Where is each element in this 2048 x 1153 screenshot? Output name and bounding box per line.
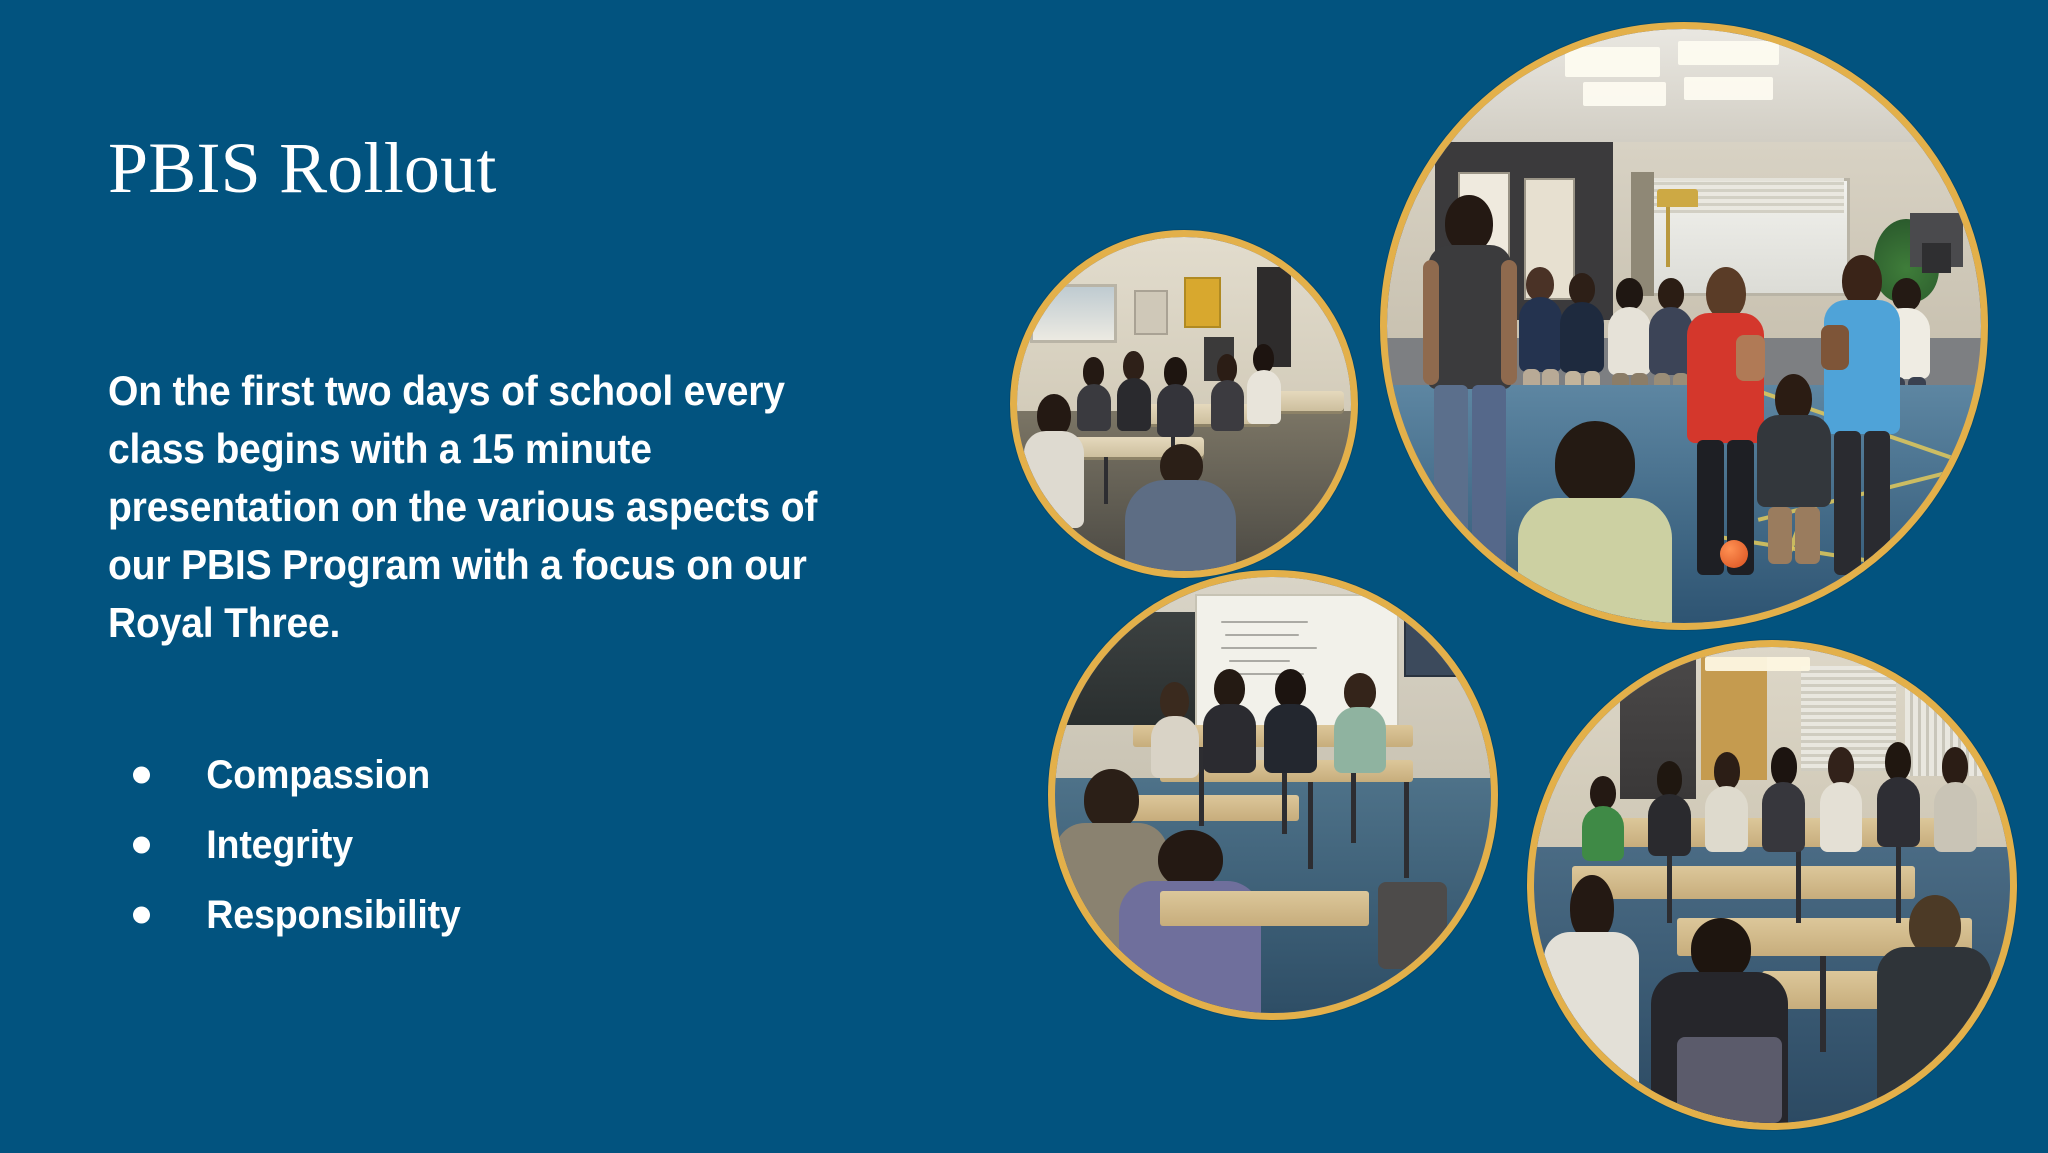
list-item: Responsibility bbox=[108, 880, 808, 950]
list-item: Integrity bbox=[108, 810, 808, 880]
photo-scene bbox=[1534, 647, 2010, 1123]
photo-collage bbox=[1000, 0, 2048, 1153]
bullet-dot-icon bbox=[133, 837, 150, 854]
royal-three-list: Compassion Integrity Responsibility bbox=[108, 740, 808, 950]
slide-text-column: PBIS Rollout On the first two days of sc… bbox=[108, 0, 938, 1153]
photo-scene bbox=[1387, 29, 1981, 623]
photo-classroom-desks bbox=[1010, 230, 1358, 578]
photo-scene bbox=[1055, 577, 1491, 1013]
bullet-dot-icon bbox=[133, 767, 150, 784]
body-paragraph: On the first two days of school every cl… bbox=[108, 362, 852, 652]
list-item: Compassion bbox=[108, 740, 808, 810]
photo-classroom-u-tables bbox=[1527, 640, 2017, 1130]
photo-scene bbox=[1017, 237, 1351, 571]
bullet-label: Responsibility bbox=[164, 893, 461, 938]
page-title: PBIS Rollout bbox=[108, 132, 497, 204]
bullet-label: Integrity bbox=[164, 823, 353, 868]
bullet-label: Compassion bbox=[164, 753, 430, 798]
photo-gym-activity bbox=[1380, 22, 1988, 630]
presentation-slide: PBIS Rollout On the first two days of sc… bbox=[0, 0, 2048, 1153]
photo-classroom-whiteboard bbox=[1048, 570, 1498, 1020]
bullet-dot-icon bbox=[133, 907, 150, 924]
